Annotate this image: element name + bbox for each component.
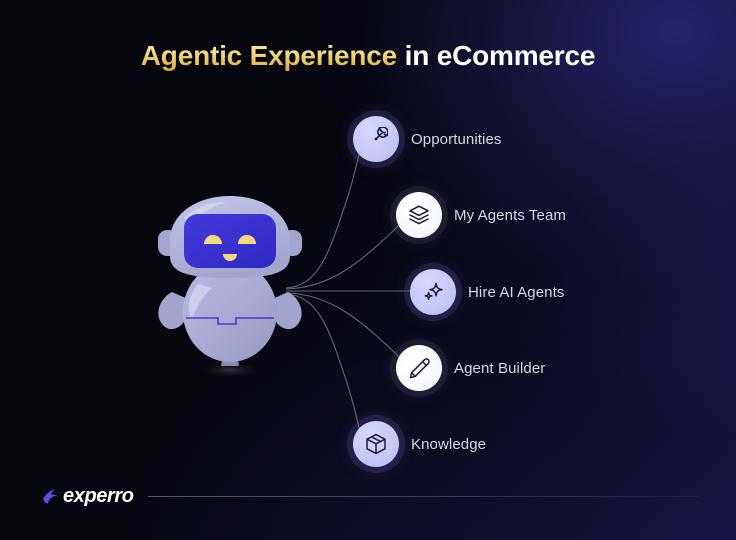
node-my-agents-team[interactable]: My Agents Team — [396, 192, 566, 238]
experro-logo[interactable]: experro — [40, 485, 134, 508]
node-label: Hire AI Agents — [468, 284, 564, 301]
node-hire-ai-agents[interactable]: Hire AI Agents — [410, 269, 564, 315]
node-icon-circle[interactable] — [353, 116, 399, 162]
node-icon-circle[interactable] — [396, 192, 442, 238]
page-title-highlight: Agentic Experience — [141, 40, 397, 71]
node-icon-circle[interactable] — [396, 345, 442, 391]
slide-canvas: Agentic Experience in eCommerce — [0, 0, 736, 540]
pencil-edit-icon — [407, 356, 431, 380]
node-knowledge[interactable]: Knowledge — [353, 421, 486, 467]
experro-logo-text: experro — [63, 485, 134, 508]
node-opportunities[interactable]: Opportunities — [353, 116, 502, 162]
node-label: My Agents Team — [454, 207, 566, 224]
node-label: Agent Builder — [454, 360, 545, 377]
target-goal-icon — [364, 127, 388, 151]
page-title-rest: in eCommerce — [397, 40, 595, 71]
node-icon-circle[interactable] — [353, 421, 399, 467]
layers-stack-icon — [407, 203, 431, 227]
footer-divider — [148, 496, 700, 497]
node-label: Knowledge — [411, 436, 486, 453]
experro-bird-icon — [40, 486, 62, 508]
node-label: Opportunities — [411, 131, 502, 148]
ai-robot-mascot — [140, 188, 320, 388]
sparkles-icon — [421, 280, 445, 304]
page-title: Agentic Experience in eCommerce — [0, 40, 736, 72]
node-agent-builder[interactable]: Agent Builder — [396, 345, 545, 391]
node-icon-circle[interactable] — [410, 269, 456, 315]
footer: experro — [40, 485, 700, 508]
package-box-icon — [364, 432, 388, 456]
